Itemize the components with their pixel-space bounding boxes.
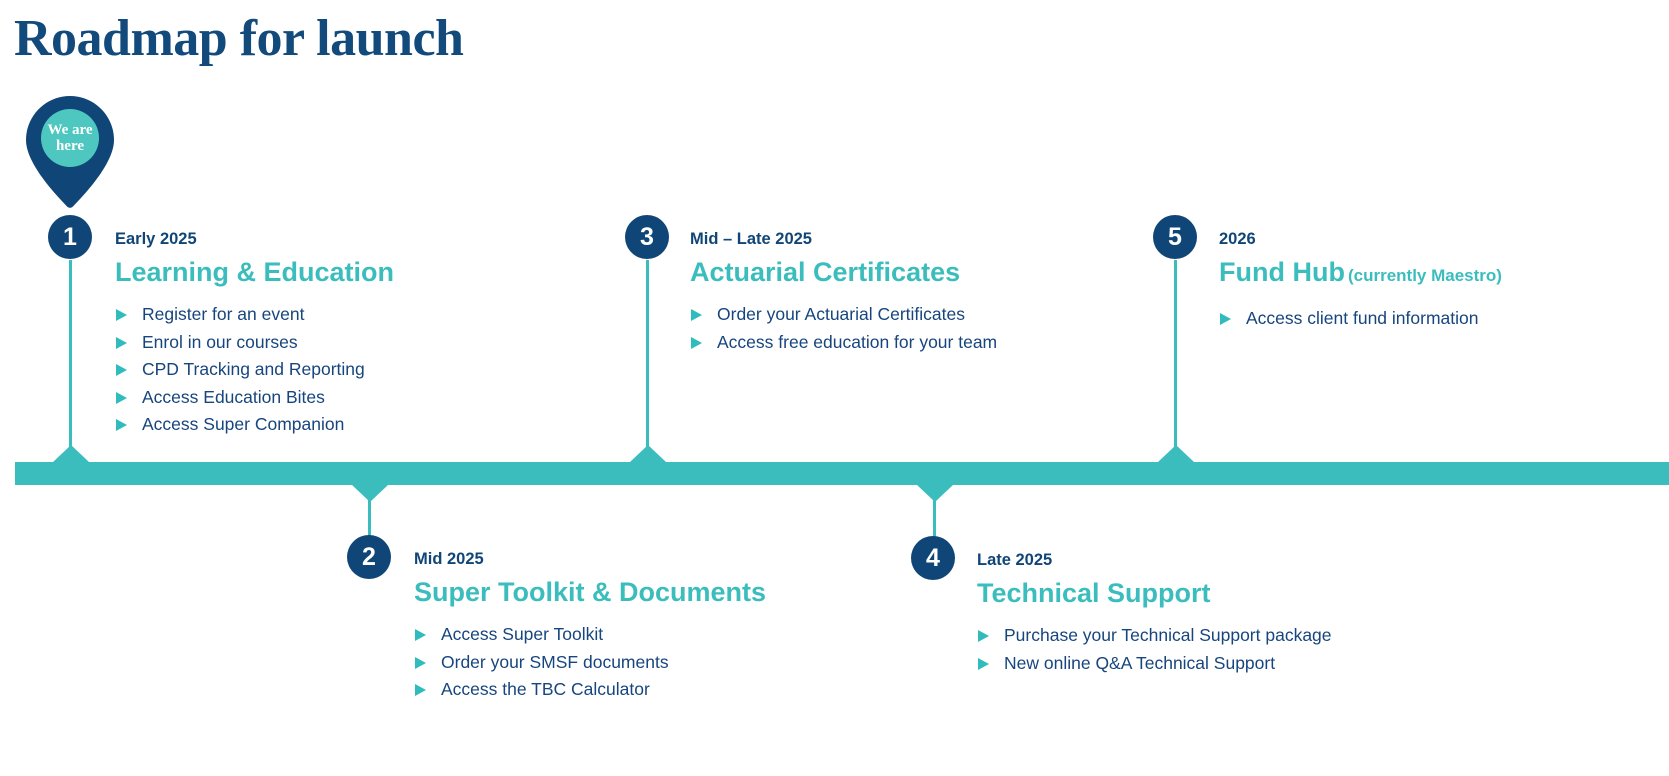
triangle-bullet-icon <box>978 630 989 642</box>
list-item: Access free education for your team <box>690 329 997 357</box>
milestone-title-2: Super Toolkit & Documents <box>414 575 766 609</box>
list-item: Access client fund information <box>1219 305 1502 333</box>
milestone-title-main-5: Fund Hub <box>1219 257 1345 287</box>
map-pin-icon <box>26 96 114 208</box>
bullet-label: Access client fund information <box>1246 308 1478 328</box>
list-item: Purchase your Technical Support package <box>977 622 1332 650</box>
page-title: Roadmap for launch <box>14 8 463 70</box>
triangle-bullet-icon <box>978 658 989 670</box>
timeline-stem-1 <box>69 260 72 462</box>
triangle-bullet-icon <box>116 392 127 404</box>
triangle-bullet-icon <box>116 419 127 431</box>
milestone-block-4: Late 2025 Technical Support Purchase you… <box>977 550 1332 677</box>
we-are-here-marker: We are here <box>26 96 114 208</box>
bullet-label: Access Education Bites <box>142 387 325 407</box>
list-item: Register for an event <box>115 301 394 329</box>
bullet-label: New online Q&A Technical Support <box>1004 653 1275 673</box>
milestone-node-5[interactable]: 5 <box>1153 215 1197 259</box>
roadmap-infographic: Roadmap for launch 1 Early 2025 Learning… <box>0 0 1669 776</box>
milestone-bullets-2: Access Super Toolkit Order your SMSF doc… <box>414 621 766 704</box>
triangle-bullet-icon <box>116 364 127 376</box>
triangle-bullet-icon <box>415 684 426 696</box>
triangle-bullet-icon <box>1220 313 1231 325</box>
milestone-block-2: Mid 2025 Super Toolkit & Documents Acces… <box>414 549 766 704</box>
milestone-period-4: Late 2025 <box>977 550 1332 570</box>
milestone-block-1: Early 2025 Learning & Education Register… <box>115 229 394 439</box>
list-item: Access the TBC Calculator <box>414 676 766 704</box>
milestone-title-main-4: Technical Support <box>977 578 1211 608</box>
bullet-label: Access Super Toolkit <box>441 624 603 644</box>
milestone-period-2: Mid 2025 <box>414 549 766 569</box>
triangle-bullet-icon <box>415 629 426 641</box>
milestone-period-5: 2026 <box>1219 229 1502 249</box>
milestone-title-main-1: Learning & Education <box>115 257 394 287</box>
milestone-title-sub-5: (currently Maestro) <box>1348 266 1502 285</box>
list-item: Access Education Bites <box>115 384 394 412</box>
bullet-label: Access the TBC Calculator <box>441 679 650 699</box>
triangle-bullet-icon <box>691 337 702 349</box>
bullet-label: Purchase your Technical Support package <box>1004 625 1332 645</box>
list-item: CPD Tracking and Reporting <box>115 356 394 384</box>
bullet-label: Order your SMSF documents <box>441 652 669 672</box>
bullet-label: Order your Actuarial Certificates <box>717 304 965 324</box>
milestone-bullets-3: Order your Actuarial Certificates Access… <box>690 301 997 356</box>
list-item: Order your SMSF documents <box>414 649 766 677</box>
milestone-block-3: Mid – Late 2025 Actuarial Certificates O… <box>690 229 997 356</box>
milestone-title-1: Learning & Education <box>115 255 394 289</box>
milestone-period-1: Early 2025 <box>115 229 394 249</box>
milestone-bullets-4: Purchase your Technical Support package … <box>977 622 1332 677</box>
milestone-title-4: Technical Support <box>977 576 1332 610</box>
triangle-bullet-icon <box>116 309 127 321</box>
milestone-node-3[interactable]: 3 <box>625 215 669 259</box>
list-item: New online Q&A Technical Support <box>977 650 1332 678</box>
list-item: Order your Actuarial Certificates <box>690 301 997 329</box>
timeline-stem-3 <box>646 260 649 462</box>
bullet-label: Register for an event <box>142 304 304 324</box>
milestone-title-3: Actuarial Certificates <box>690 255 997 289</box>
milestone-period-3: Mid – Late 2025 <box>690 229 997 249</box>
triangle-bullet-icon <box>691 309 702 321</box>
milestone-bullets-5: Access client fund information <box>1219 305 1502 333</box>
bullet-label: Access Super Companion <box>142 414 344 434</box>
milestone-node-4[interactable]: 4 <box>911 536 955 580</box>
list-item: Access Super Companion <box>115 411 394 439</box>
milestone-title-main-2: Super Toolkit & Documents <box>414 577 766 607</box>
milestone-title-5: Fund Hub(currently Maestro) <box>1219 255 1502 293</box>
bullet-label: Access free education for your team <box>717 332 997 352</box>
list-item: Access Super Toolkit <box>414 621 766 649</box>
milestone-node-2[interactable]: 2 <box>347 535 391 579</box>
bullet-label: CPD Tracking and Reporting <box>142 359 365 379</box>
timeline-stem-5 <box>1174 260 1177 462</box>
triangle-bullet-icon <box>415 657 426 669</box>
milestone-node-1[interactable]: 1 <box>48 215 92 259</box>
milestone-block-5: 2026 Fund Hub(currently Maestro) Access … <box>1219 229 1502 333</box>
milestone-bullets-1: Register for an event Enrol in our cours… <box>115 301 394 439</box>
triangle-bullet-icon <box>116 337 127 349</box>
timeline-bar <box>15 462 1669 485</box>
bullet-label: Enrol in our courses <box>142 332 298 352</box>
milestone-title-main-3: Actuarial Certificates <box>690 257 960 287</box>
list-item: Enrol in our courses <box>115 329 394 357</box>
